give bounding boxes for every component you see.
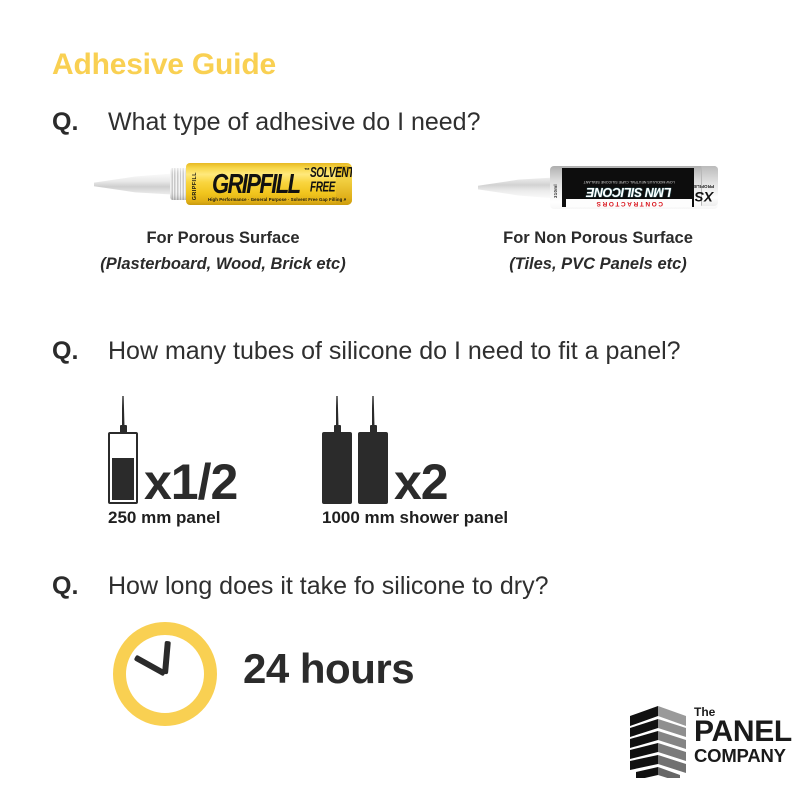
caption-main: For Porous Surface — [58, 226, 388, 252]
product-description-strip: High Performance · General Purpose · Sol… — [208, 197, 346, 202]
nozzle-icon — [334, 396, 341, 434]
adhesive-option-non-porous: CONTRACTORS LMN SILICONE LOW MODULUS NEU… — [448, 160, 748, 277]
stacked-panels-icon — [628, 702, 688, 778]
brand-logo-icon: XS PROFILE — [694, 171, 714, 205]
clock-icon — [113, 622, 217, 726]
tube-full-icon — [358, 396, 388, 504]
product-name: LMN SILICONE — [566, 185, 692, 198]
tube-icons — [108, 396, 138, 504]
porous-caption: For Porous Surface (Plasterboard, Wood, … — [58, 226, 388, 277]
question-prefix: Q. — [52, 337, 108, 366]
question-row-2: Q. How many tubes of silicone do I need … — [52, 337, 681, 366]
caption-main: For Non Porous Surface — [448, 226, 748, 252]
tube-body — [322, 432, 352, 504]
logo-wordmark: The PANEL COMPANY — [694, 706, 792, 766]
tube-fill-level — [112, 458, 134, 500]
silicone-cartridge-icon: CONTRACTORS LMN SILICONE LOW MODULUS NEU… — [478, 160, 718, 212]
adhesive-option-porous: GRIPFILL GRIPFILL ™ SOLVENT FREE High Pe… — [58, 160, 388, 277]
quantity-label-250mm: 250 mm panel — [108, 508, 220, 528]
tube-body — [358, 432, 388, 504]
quantity-multiplier: x2 — [394, 461, 448, 504]
product-side-tag: GRIPFILL — [192, 172, 198, 200]
question-text: What type of adhesive do I need? — [108, 108, 480, 137]
question-text: How many tubes of silicone do I need to … — [108, 337, 681, 366]
quantity-multiplier: x1/2 — [144, 461, 237, 504]
product-volume-tag: 310ml — [553, 184, 558, 198]
tube-icons — [322, 396, 388, 504]
tube-full-icon — [322, 396, 352, 504]
logo-panel: PANEL — [694, 718, 792, 746]
question-prefix: Q. — [52, 572, 108, 601]
tube-half-icon — [108, 396, 138, 504]
drying-time-answer: 24 hours — [243, 645, 414, 693]
caption-sub: (Tiles, PVC Panels etc) — [448, 252, 748, 278]
product-claim-line2: FREE — [310, 182, 348, 197]
cartridge-body: GRIPFILL GRIPFILL ™ SOLVENT FREE High Pe… — [186, 163, 352, 205]
question-text: How long does it take fo silicone to dry… — [108, 572, 549, 601]
quantity-group-250mm: x1/2 — [108, 396, 237, 504]
nozzle-icon — [370, 396, 377, 434]
logo-company: COMPANY — [694, 746, 792, 766]
page-title: Adhesive Guide — [52, 48, 276, 82]
nozzle-icon — [94, 173, 180, 195]
tube-body — [108, 432, 138, 504]
quantity-label-1000mm: 1000 mm shower panel — [322, 508, 508, 528]
brand-logo-mark: XS — [695, 189, 714, 205]
quantity-group-1000mm: x2 — [322, 396, 448, 504]
nozzle-tip — [372, 396, 375, 426]
brand-logo-sub: PROFILE — [694, 184, 714, 189]
product-brand-name: GRIPFILL — [212, 168, 299, 201]
nozzle-icon — [120, 396, 127, 434]
nozzle-tip — [122, 396, 125, 426]
question-row-1: Q. What type of adhesive do I need? — [52, 108, 480, 137]
question-row-3: Q. How long does it take fo silicone to … — [52, 572, 549, 601]
caption-sub: (Plasterboard, Wood, Brick etc) — [58, 252, 388, 278]
brand-logo: The PANEL COMPANY — [628, 700, 780, 782]
clock-minute-hand — [134, 655, 166, 676]
cartridge-body: CONTRACTORS LMN SILICONE LOW MODULUS NEU… — [550, 166, 718, 209]
gripfill-cartridge-icon: GRIPFILL GRIPFILL ™ SOLVENT FREE High Pe… — [94, 160, 352, 212]
non-porous-caption: For Non Porous Surface (Tiles, PVC Panel… — [448, 226, 748, 277]
nozzle-tip — [336, 396, 339, 426]
question-prefix: Q. — [52, 108, 108, 137]
adhesive-guide-page: Adhesive Guide Q. What type of adhesive … — [0, 0, 800, 800]
product-range-band: CONTRACTORS — [566, 199, 692, 207]
product-description: LOW MODULUS NEUTRAL CURE SILICONE SEALAN… — [570, 180, 688, 184]
